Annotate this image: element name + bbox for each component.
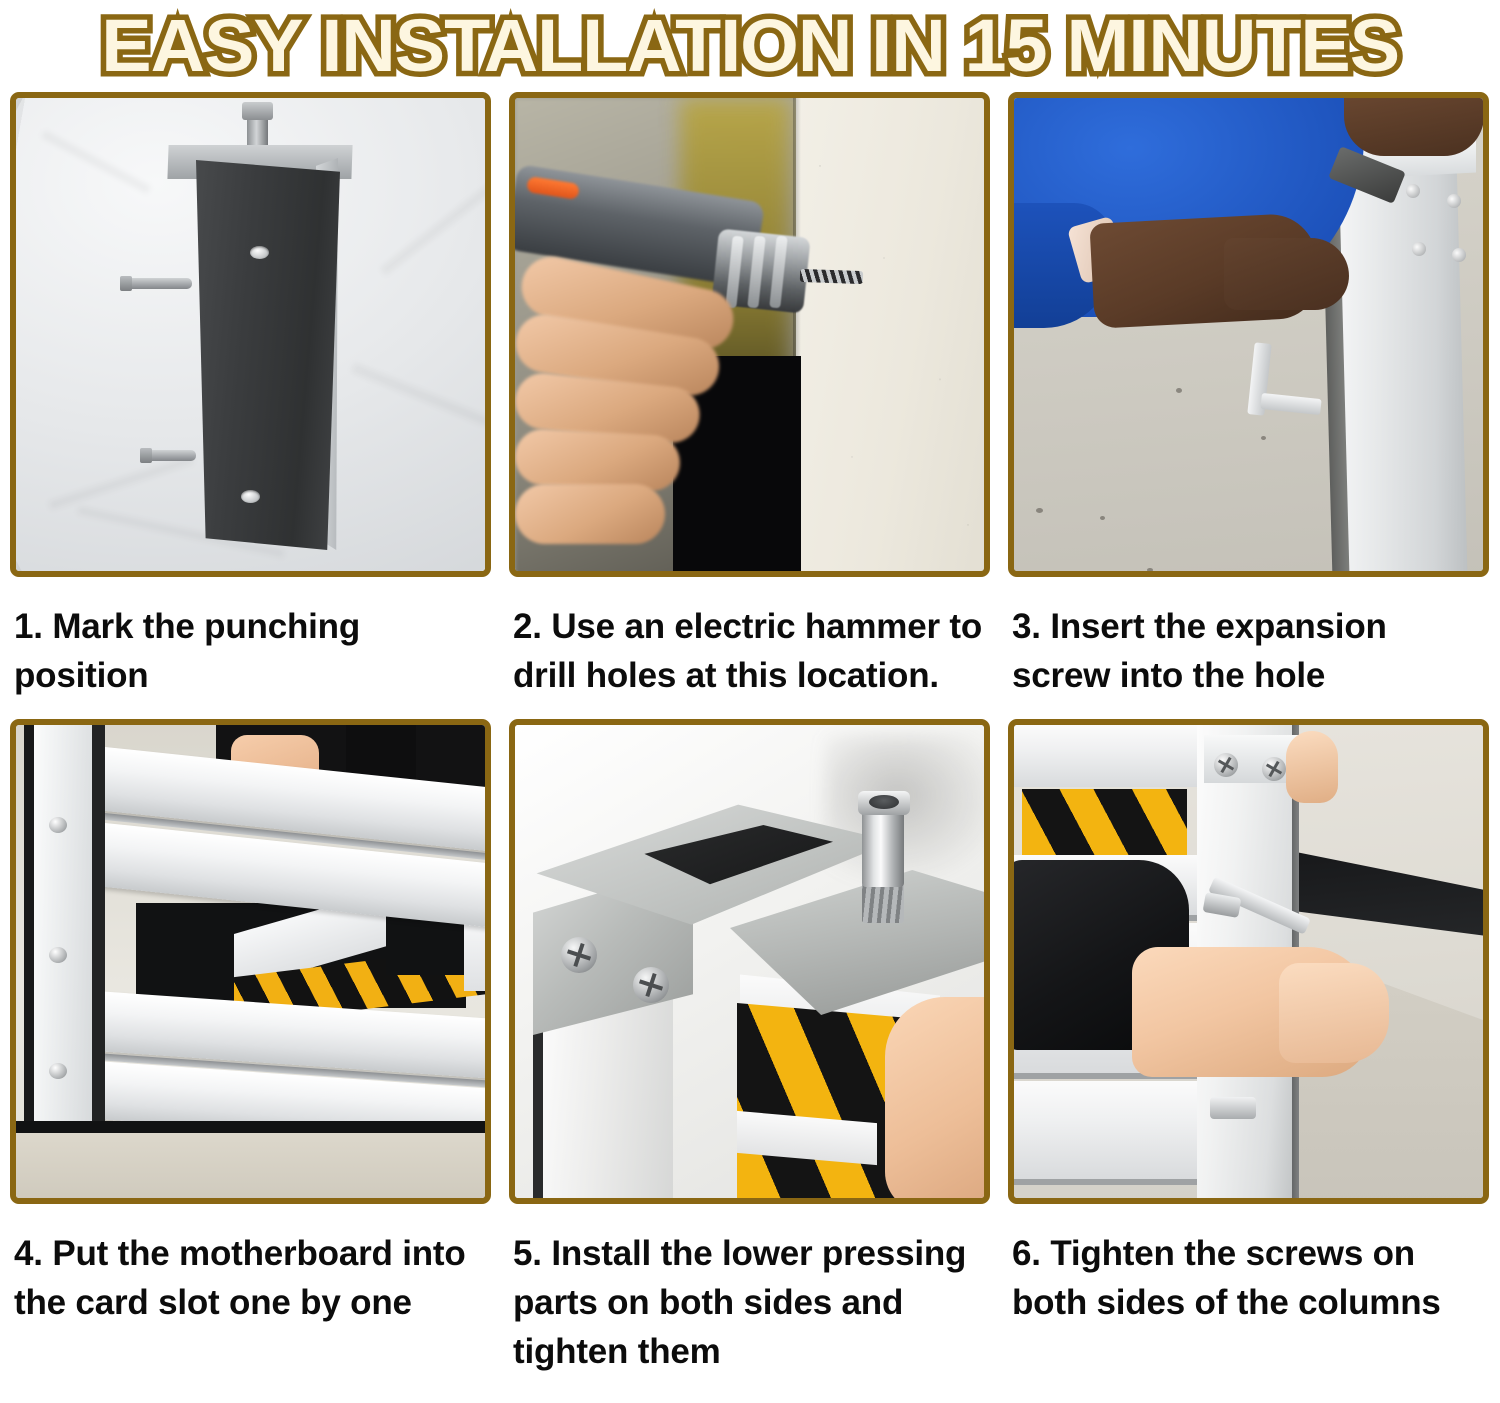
photo-mark-punching-position — [10, 92, 491, 577]
photo-canvas-5 — [515, 725, 984, 1198]
step-card-6: 6. Tighten the screws on both sides of t… — [1008, 719, 1489, 1376]
step-caption-1: 1. Mark the punching position — [10, 577, 491, 700]
step-caption-6: 6. Tighten the screws on both sides of t… — [1008, 1204, 1489, 1327]
step-card-1: 1. Mark the punching position — [10, 92, 491, 700]
photo-insert-expansion-screw — [1008, 92, 1489, 577]
step-caption-5: 5. Install the lower pressing parts on b… — [509, 1204, 990, 1376]
step-caption-3: 3. Insert the expansion screw into the h… — [1008, 577, 1489, 700]
photo-drill-holes — [509, 92, 990, 577]
header-banner: EASY INSTALLATION IN 15 MINUTES — [0, 0, 1500, 92]
photo-tighten-column-screws — [1008, 719, 1489, 1204]
step-caption-4: 4. Put the motherboard into the card slo… — [10, 1204, 491, 1327]
step-card-3: 3. Insert the expansion screw into the h… — [1008, 92, 1489, 700]
step-card-2: 2. Use an electric hammer to drill holes… — [509, 92, 990, 700]
steps-grid: 1. Mark the punching position — [0, 92, 1500, 1376]
step-card-4: 4. Put the motherboard into the card slo… — [10, 719, 491, 1376]
step-caption-2: 2. Use an electric hammer to drill holes… — [509, 577, 990, 700]
photo-install-lower-pressing-parts — [509, 719, 990, 1204]
step-card-5: 5. Install the lower pressing parts on b… — [509, 719, 990, 1376]
photo-canvas-3 — [1014, 98, 1483, 571]
photo-insert-boards-card-slot — [10, 719, 491, 1204]
photo-canvas-2 — [515, 98, 984, 571]
page-title: EASY INSTALLATION IN 15 MINUTES — [101, 9, 1399, 83]
photo-canvas-6 — [1014, 725, 1483, 1198]
photo-canvas-4 — [16, 725, 485, 1198]
photo-canvas-1 — [16, 98, 485, 571]
steps-row-bottom: 4. Put the motherboard into the card slo… — [0, 719, 1500, 1376]
steps-row-top: 1. Mark the punching position — [0, 92, 1500, 700]
